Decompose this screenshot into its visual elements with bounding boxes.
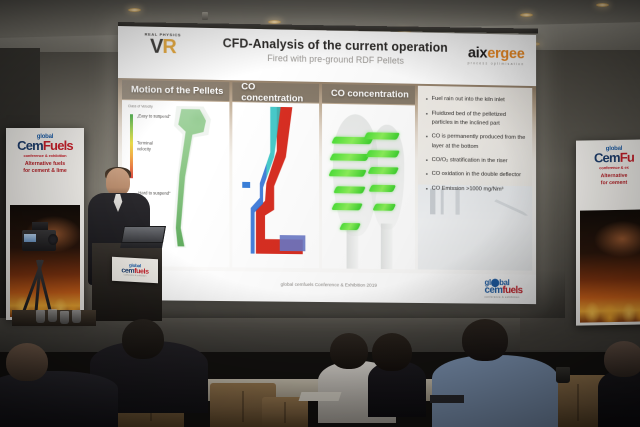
aixergee-aix: aix <box>468 44 487 61</box>
vr-logo-mark: VR <box>136 37 190 57</box>
vr-logo-v: V <box>150 36 162 58</box>
colorbar-label-mid: Terminal velocity <box>137 140 153 152</box>
aixergee-tagline: process optimisation <box>468 61 525 66</box>
aixergee-ergee: ergee <box>487 45 524 62</box>
footer-text: global cemfuels Conference & Exhibition … <box>281 283 377 289</box>
riser-stem-right <box>381 223 393 269</box>
co-isosurface <box>328 170 367 177</box>
co-isosurface <box>372 203 396 210</box>
findings-list: ▪Fuel rain out into the kiln inlet ▪Flui… <box>426 95 529 200</box>
banner-right-tagline: Alternative for cement <box>580 172 640 186</box>
banner-right-subtitle: conference & ex <box>580 164 640 170</box>
bullet-text: CO oxidation in the double deflector <box>432 170 521 181</box>
audience-member <box>598 369 640 427</box>
co-isosurface <box>367 167 398 174</box>
audience-head <box>604 341 640 377</box>
co-isosurface <box>333 186 366 193</box>
co-isosurface <box>363 132 400 139</box>
bullet-icon: ▪ <box>426 170 428 180</box>
banner-left-fuels: Fuels <box>43 138 73 153</box>
banner-right-text: global CemFu conference & ex Alternative… <box>576 139 640 189</box>
audience-head <box>122 319 164 359</box>
bullet-text: CO/O₂ stratification in the riser <box>432 156 508 167</box>
list-item: ▪CO is permanently produced from the lay… <box>426 132 529 152</box>
list-item: ▪Fuel rain out into the kiln inlet <box>426 95 529 107</box>
bullet-text: CO is permanently produced from the laye… <box>432 132 529 152</box>
downlight-icon <box>596 3 609 7</box>
banner-left-wordmark: CemFuels <box>10 140 80 152</box>
podium-sign-tagline: conference & exhibition <box>124 274 147 277</box>
downlight-icon <box>268 20 281 24</box>
panel-2-body <box>232 102 319 268</box>
pellet-motion-geometry <box>158 106 220 249</box>
laptop-screen <box>121 226 166 243</box>
banner-left-text: global CemFuels conference & exhibition … <box>6 128 84 177</box>
downlight-icon <box>520 13 533 17</box>
podium-sign: global cemfuels conference & exhibition <box>112 257 158 283</box>
paper-document <box>299 392 342 401</box>
list-item: ▪CO oxidation in the double deflector <box>426 170 529 181</box>
downlight-icon <box>128 8 141 12</box>
bullet-icon: ▪ <box>426 184 428 194</box>
presenter-head <box>106 168 130 196</box>
co-isosurface <box>365 151 400 158</box>
co-isosurface <box>369 185 396 192</box>
panel-3-body <box>322 104 415 270</box>
bullet-text: Fluidized bed of the pelletized particle… <box>432 109 529 129</box>
banner-left-subtitle: conference & exhibition <box>10 153 80 158</box>
audience-member <box>432 355 558 427</box>
bullet-icon: ▪ <box>426 109 428 128</box>
camera-lens-icon <box>48 234 58 245</box>
panel-2-header: CO concentration <box>232 82 319 103</box>
audience-head <box>372 333 412 371</box>
pellet-track-field <box>158 106 220 249</box>
bullet-text: Fuel rain out into the kiln inlet <box>432 95 505 106</box>
co-isosurface <box>332 203 363 210</box>
projection-screen[interactable]: REAL PHYSICS VR CFD-Analysis of the curr… <box>118 26 536 304</box>
presenter-laptop <box>120 226 166 248</box>
real-physics-vr-logo: REAL PHYSICS VR <box>136 31 190 66</box>
chair <box>262 397 308 427</box>
kiln-inlet-box <box>280 235 306 251</box>
banner-right-fuels: Fu <box>620 150 634 165</box>
panel-3-header: CO concentration <box>322 84 415 105</box>
slide-body: Motion of the Pellets Class of Velocity … <box>118 78 536 275</box>
audience-head <box>6 343 48 381</box>
co-isosurface <box>339 223 361 230</box>
drinking-glass <box>556 367 570 383</box>
aixergee-logo: aixergee process optimisation <box>468 45 525 66</box>
vr-logo-r: R <box>162 36 175 58</box>
audience-head <box>330 333 368 369</box>
banner-left-tagline: Alternative fuels for cement & lime <box>10 161 80 174</box>
panel-4-body: ▪Fuel rain out into the kiln inlet ▪Flui… <box>418 86 532 271</box>
panel-co-concentration-2d: CO concentration <box>232 82 319 268</box>
panel-findings: ▪Fuel rain out into the kiln inlet ▪Flui… <box>418 86 532 271</box>
deflector-vessel-right <box>370 124 403 230</box>
double-deflector-geometry <box>322 104 415 270</box>
co-isosurface <box>329 153 370 160</box>
co-contour-riser <box>240 106 305 254</box>
bullet-icon: ▪ <box>426 132 428 151</box>
bullet-icon: ▪ <box>426 156 428 166</box>
panel-co-concentration-3d: CO concentration <box>322 84 415 269</box>
tertiary-air-inlet <box>242 182 250 188</box>
banner-left-cem: Cem <box>17 138 43 153</box>
slide-header: REAL PHYSICS VR CFD-Analysis of the curr… <box>118 26 536 86</box>
bullet-text: CO Emission >1000 mg/Nm³ <box>432 184 504 195</box>
banner-right-cem: Cem <box>594 150 620 165</box>
conference-room: global CemFuels conference & exhibition … <box>0 0 640 427</box>
list-item: ▪CO Emission >1000 mg/Nm³ <box>426 184 529 195</box>
aixergee-wordmark: aixergee <box>468 45 525 61</box>
list-item: ▪Fluidized bed of the pelletized particl… <box>426 109 529 130</box>
phone-device <box>430 395 464 403</box>
list-item: ▪CO/O₂ stratification in the riser <box>426 156 529 167</box>
panel-row: Motion of the Pellets Class of Velocity … <box>118 78 536 275</box>
bullet-icon: ▪ <box>426 95 428 105</box>
sprinkler-icon <box>202 12 208 20</box>
audience <box>0 292 640 427</box>
banner-right-wordmark: CemFu <box>580 151 640 164</box>
panel-1-header: Motion of the Pellets <box>122 80 229 101</box>
audience-head <box>462 319 508 361</box>
camera-lcd-screen <box>24 234 36 242</box>
